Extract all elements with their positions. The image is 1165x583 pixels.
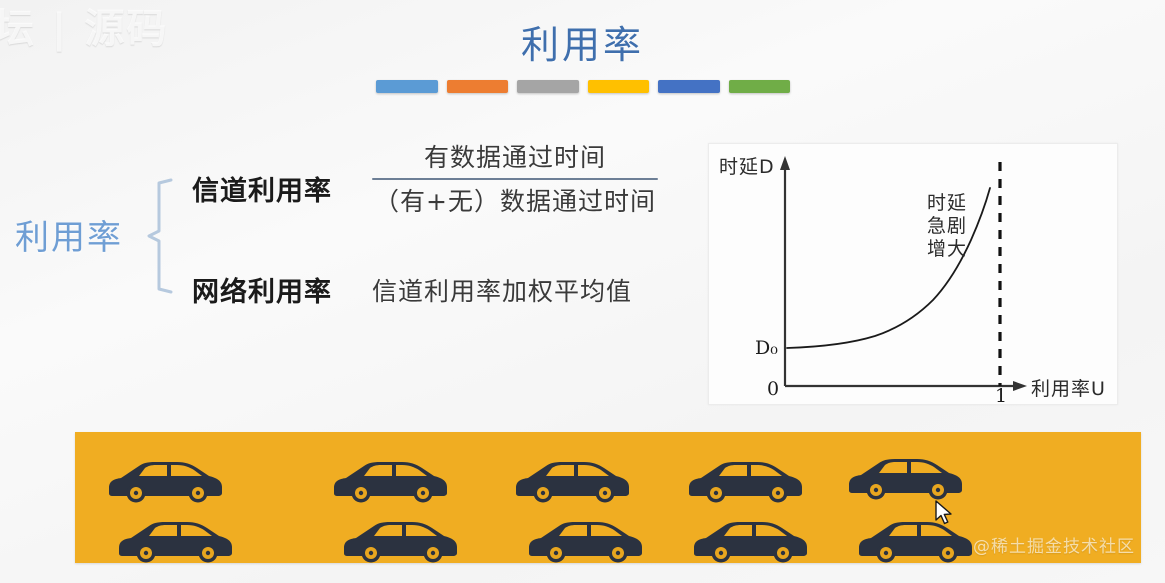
car-silhouette <box>340 510 460 566</box>
chart-origin-label: 0 <box>767 378 779 400</box>
formula-divider <box>372 178 658 180</box>
car-silhouette <box>685 450 805 506</box>
diagram-root-label: 利用率 <box>15 210 123 259</box>
car-silhouette <box>525 510 645 566</box>
formula-denominator: （有+无）数据通过时间 <box>370 186 660 217</box>
car-silhouette <box>105 450 225 506</box>
chart-ytick-d0: D₀ <box>755 337 778 359</box>
accent-bar-navy <box>658 80 720 93</box>
chart-annotation-line-3: 增大 <box>927 238 967 261</box>
car-silhouette <box>855 510 975 566</box>
network-utilization-value: 信道利用率加权平均值 <box>372 272 632 308</box>
car-silhouette <box>115 510 235 566</box>
cars-panel: @稀土掘金技术社区 <box>75 432 1141 563</box>
accent-bar-blue <box>376 80 438 93</box>
accent-bar-orange <box>447 80 509 93</box>
car-silhouette <box>512 450 632 506</box>
car-silhouette <box>690 510 810 566</box>
chart-xtick-one: 1 <box>995 385 1007 407</box>
car-silhouette <box>330 450 450 506</box>
slide-canvas: 坛 | 源码 利用率 利用率 信道利用率 有数据通过时间 （有+无）数据通过时间… <box>0 0 1165 583</box>
chart-ylabel: 时延D <box>719 152 775 179</box>
accent-bar-green <box>729 80 791 93</box>
formula-numerator: 有数据通过时间 <box>370 142 660 173</box>
page-title: 利用率 <box>0 14 1165 69</box>
accent-bar-gray <box>517 80 579 93</box>
mouse-cursor-icon <box>934 500 954 526</box>
diagram-row-label-network: 网络利用率 <box>192 270 332 309</box>
chart-x-axis <box>785 381 1027 391</box>
accent-bar-strip <box>376 80 790 93</box>
diagram-row-label-channel: 信道利用率 <box>192 169 332 208</box>
chart-annotation-line-1: 时延 <box>927 192 967 215</box>
accent-bar-yellow <box>588 80 650 93</box>
chart-y-axis <box>780 156 790 386</box>
car-silhouette <box>845 447 965 503</box>
watermark-bottom-right: @稀土掘金技术社区 <box>973 532 1135 557</box>
delay-utilization-chart: 时延D 利用率U D₀ 0 1 时延 急剧 增大 <box>708 143 1118 405</box>
chart-annotation-line-2: 急剧 <box>927 215 967 238</box>
chart-xlabel: 利用率U <box>1031 374 1106 401</box>
diagram-brace <box>147 178 173 294</box>
channel-utilization-formula: 有数据通过时间 （有+无）数据通过时间 <box>370 142 660 218</box>
chart-annotation: 时延 急剧 增大 <box>927 192 967 262</box>
